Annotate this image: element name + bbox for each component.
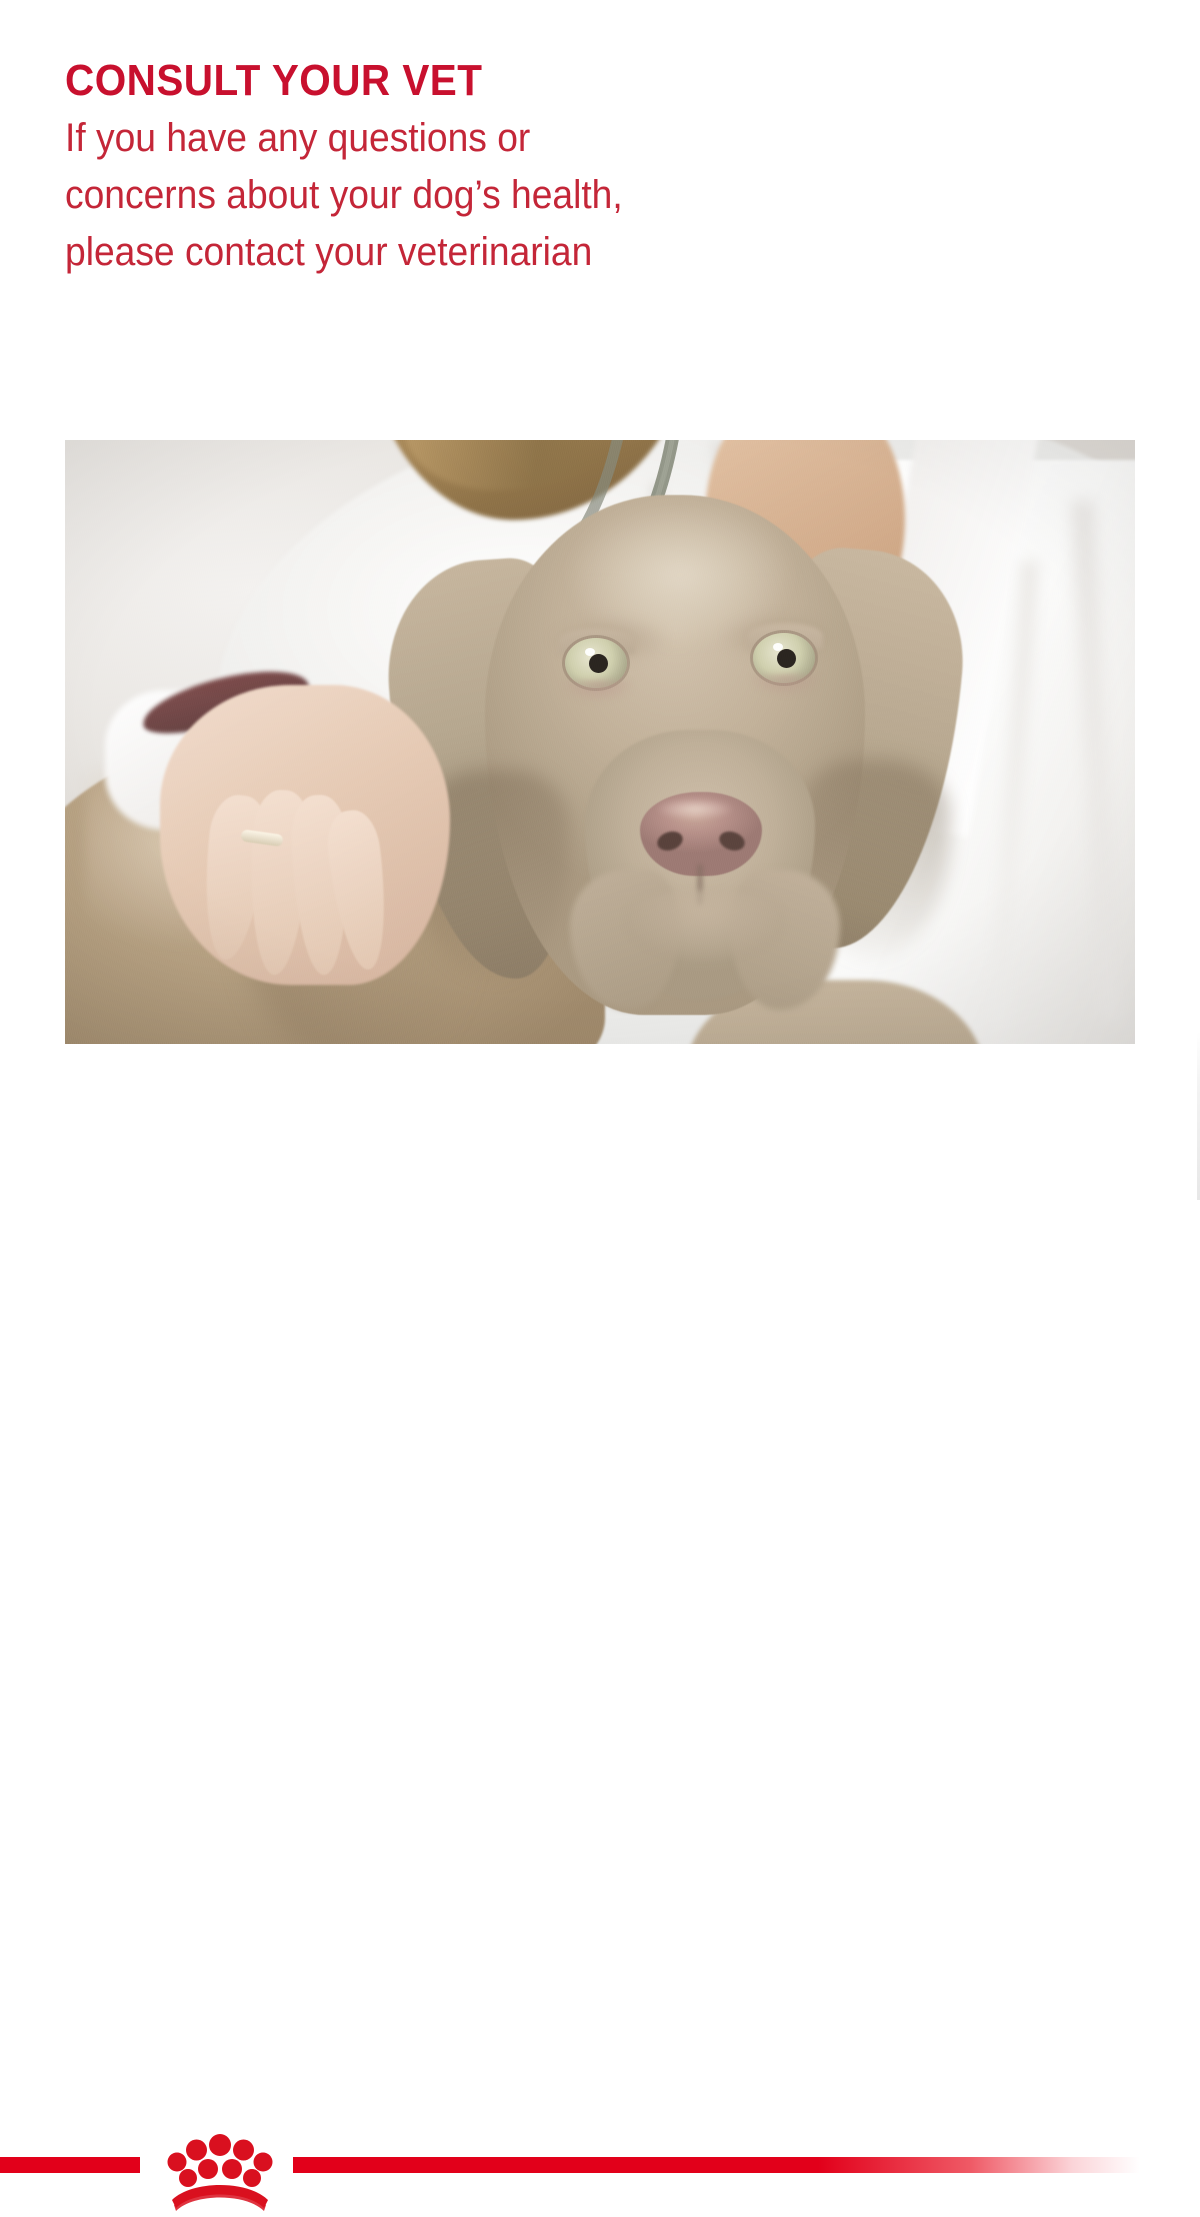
vet-examining-dog-photo [65,440,1135,1044]
header-text-block: CONSULT YOUR VET If you have any questio… [65,58,925,281]
page-title: CONSULT YOUR VET [65,58,856,104]
header-body: If you have any questions or concerns ab… [65,110,865,281]
royal-canin-crown-icon [160,2132,280,2212]
poster-page: CONSULT YOUR VET If you have any questio… [0,0,1200,1200]
footer [0,1060,1200,1200]
header-body-line-3: please contact your veterinarian [65,224,865,281]
royal-canin-logo [160,2132,280,2212]
header-body-line-1: If you have any questions or [65,110,865,167]
photo-vignette [65,440,1135,1044]
footer-rule-left [0,2157,140,2173]
header-body-line-2: concerns about your dog’s health, [65,167,865,224]
footer-rule-right [293,2157,1140,2173]
